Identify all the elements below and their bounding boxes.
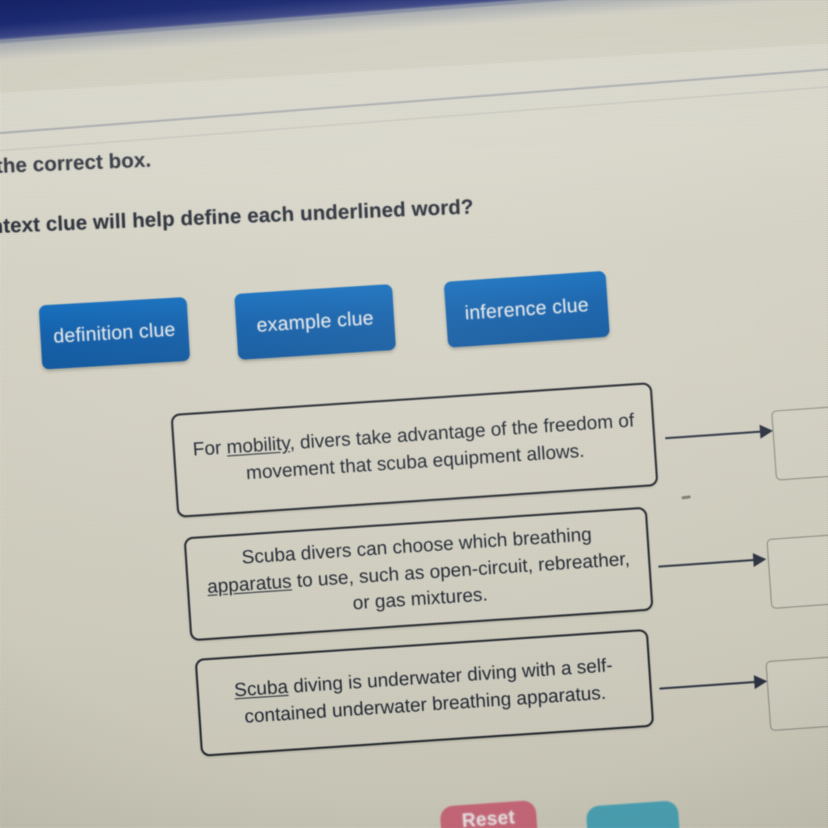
screen-artifact-speck — [681, 495, 690, 499]
instruction-line-1: o the correct box. — [0, 149, 152, 180]
instruction-line-2: ontext clue will help define each underl… — [0, 195, 474, 239]
sentence-before: For — [192, 438, 227, 461]
drop-target-3[interactable] — [765, 654, 828, 731]
arrow-shaft — [659, 681, 755, 690]
arrow-right-icon — [659, 672, 768, 697]
page-divider-upper — [0, 62, 828, 138]
sentence-after: diving is underwater diving with a self-… — [244, 655, 614, 727]
page-divider-lower — [0, 80, 828, 155]
arrow-right-icon — [665, 422, 774, 447]
answer-chip-inference-clue[interactable]: inference clue — [444, 271, 610, 348]
arrow-shaft — [665, 431, 761, 440]
arrow-shaft — [658, 559, 754, 568]
underlined-vocab-word: apparatus — [207, 571, 293, 598]
sentence-text: Scuba divers can choose which breathing … — [200, 519, 636, 628]
arrow-right-icon — [658, 550, 767, 575]
sentence-box: Scuba divers can choose which breathing … — [184, 507, 654, 642]
answer-chip-definition-clue[interactable]: definition clue — [39, 297, 190, 370]
reset-button[interactable]: Reset — [439, 800, 538, 828]
underlined-vocab-word: mobility — [226, 433, 290, 458]
tilted-content-layer: o the correct box. ontext clue will help… — [0, 0, 828, 828]
sentence-box: For mobility, divers take advantage of t… — [171, 382, 659, 518]
drop-target-1[interactable] — [771, 404, 828, 481]
answer-chip-example-clue[interactable]: example clue — [234, 284, 396, 360]
arrow-head — [753, 552, 767, 567]
submit-button[interactable] — [586, 800, 681, 828]
sentence-after: , divers take advantage of the freedom o… — [245, 410, 634, 484]
sentence-box: Scuba diving is underwater diving with a… — [195, 629, 654, 757]
sentence-text: Scuba diving is underwater diving with a… — [212, 652, 637, 734]
photographed-worksheet-screen: o the correct box. ontext clue will help… — [0, 0, 828, 828]
drop-target-2[interactable] — [766, 532, 828, 609]
sentence-text: For mobility, divers take advantage of t… — [188, 408, 641, 492]
underlined-vocab-word: Scuba — [234, 677, 289, 702]
